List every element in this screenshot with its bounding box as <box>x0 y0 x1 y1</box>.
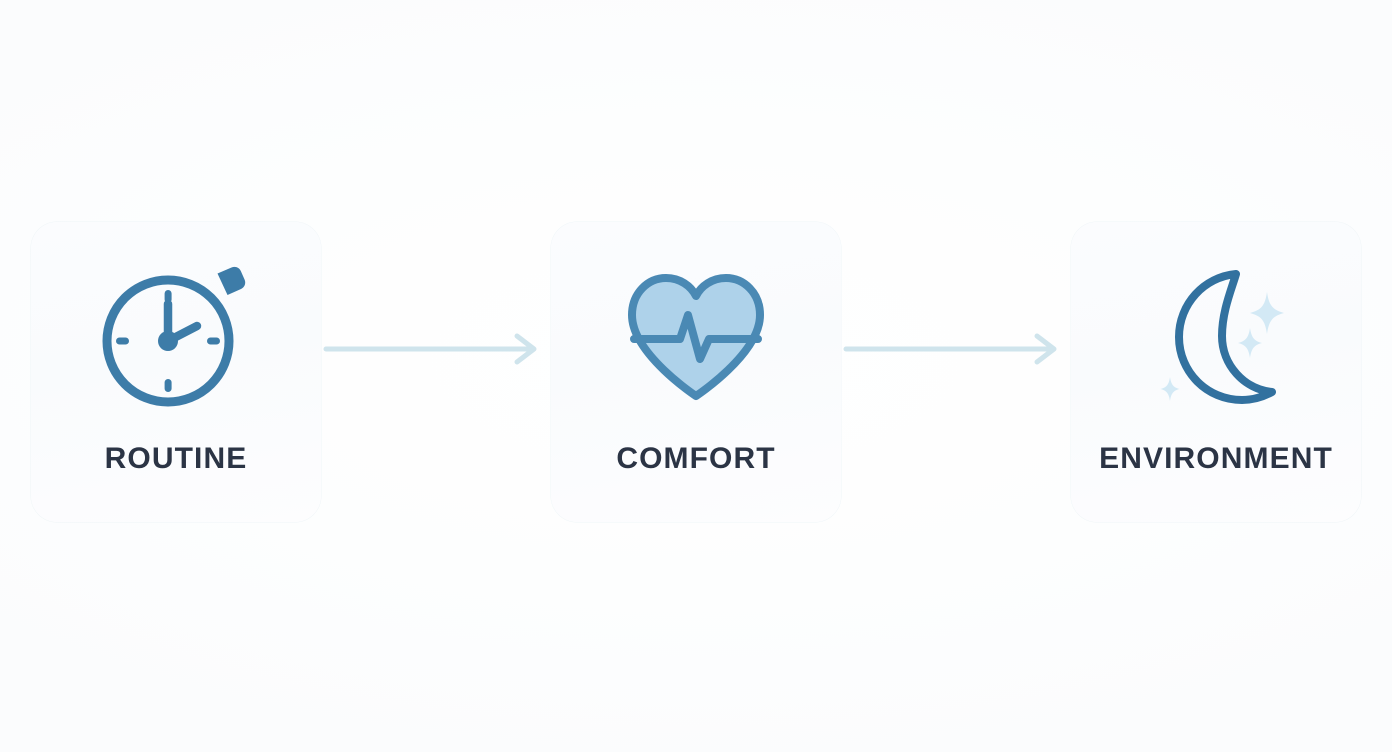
flow-step-comfort[interactable]: COMFORT <box>551 222 841 522</box>
flow-step-label-comfort: COMFORT <box>616 444 775 474</box>
crescent-moon-icon <box>1126 250 1306 420</box>
connector-routine-comfort <box>321 222 551 522</box>
flow-step-label-environment: ENVIRONMENT <box>1099 444 1333 474</box>
arrow-right-icon <box>324 332 549 366</box>
stopwatch-clock-icon <box>86 250 266 420</box>
diagram-canvas: ROUTINE COMFORT <box>0 0 1392 752</box>
connector-comfort-environment <box>841 222 1071 522</box>
flow-step-label-routine: ROUTINE <box>105 444 248 474</box>
flow-step-routine[interactable]: ROUTINE <box>31 222 321 522</box>
arrow-right-icon <box>844 332 1069 366</box>
process-flow: ROUTINE COMFORT <box>0 222 1392 522</box>
flow-step-environment[interactable]: ENVIRONMENT <box>1071 222 1361 522</box>
heart-pulse-icon <box>606 250 786 420</box>
